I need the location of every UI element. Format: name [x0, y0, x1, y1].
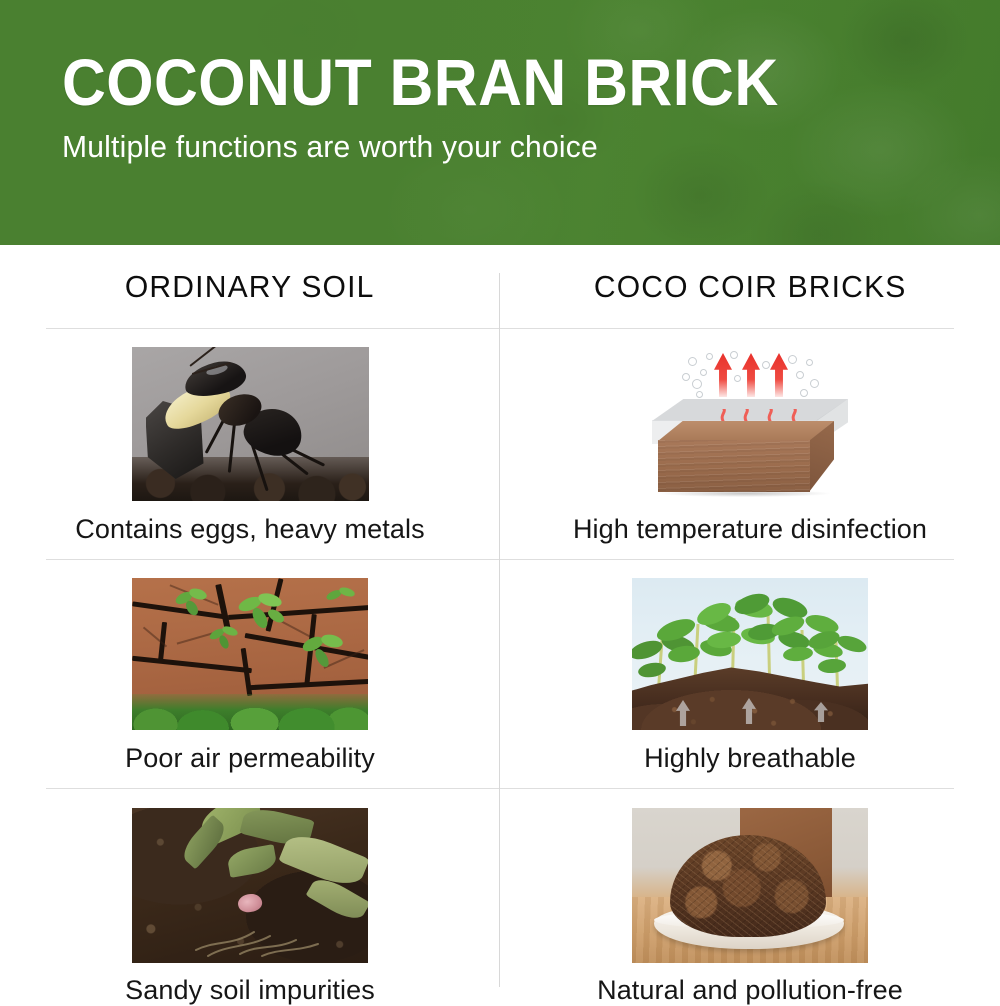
soil-sprout	[174, 584, 214, 618]
brick-shadow	[660, 490, 830, 497]
cell-coco-coir-3: Natural and pollution-free	[500, 789, 1000, 1006]
soil-sprout	[236, 586, 288, 630]
cell-caption: Highly breathable	[644, 743, 856, 774]
cell-caption: High temperature disinfection	[573, 514, 927, 545]
column-header-ordinary-soil: ORDINARY SOIL	[0, 245, 500, 328]
steam-bubble	[796, 371, 804, 379]
soil-sprout	[208, 622, 242, 650]
steam-bubble	[700, 369, 707, 376]
steam-bubble	[734, 375, 741, 382]
heat-sterilization-diagram	[630, 347, 870, 501]
steam-bubble	[730, 351, 738, 359]
comparison-table: ORDINARY SOIL COCO COIR BRICKS	[0, 245, 1000, 987]
steam-bubble	[762, 361, 770, 369]
cell-caption: Contains eggs, heavy metals	[75, 514, 424, 545]
soil-crack	[132, 656, 252, 674]
page-subtitle: Multiple functions are worth your choice	[62, 130, 818, 164]
cell-coco-coir-1: High temperature disinfection	[500, 329, 1000, 545]
cracked-dry-soil-image	[132, 578, 368, 730]
steam-bubble	[806, 359, 813, 366]
cell-ordinary-soil-2: Poor air permeability	[0, 560, 500, 774]
soil-sprout	[300, 628, 348, 670]
ant-carrying-larva-image	[132, 347, 369, 501]
column-header-label: ORDINARY SOIL	[125, 269, 375, 305]
cell-coco-coir-2: Highly breathable	[500, 560, 1000, 774]
column-header-row: ORDINARY SOIL COCO COIR BRICKS	[0, 245, 1000, 328]
cell-caption: Sandy soil impurities	[125, 975, 375, 1006]
cell-caption: Poor air permeability	[125, 743, 375, 774]
wilted-plant-soil-image	[132, 808, 368, 963]
steam-bubble	[706, 353, 713, 360]
cell-caption: Natural and pollution-free	[597, 975, 903, 1006]
column-divider	[499, 273, 500, 987]
table-row: Poor air permeability	[0, 560, 1000, 774]
steam-bubble	[788, 355, 797, 364]
steam-bubble	[692, 379, 702, 389]
coir-brick-texture	[658, 440, 810, 492]
column-header-label: COCO COIR BRICKS	[594, 269, 907, 305]
steam-bubble	[682, 373, 690, 381]
coir-fiber-dish-image	[632, 808, 868, 963]
steam-bubble	[688, 357, 697, 366]
column-header-coco-coir-bricks: COCO COIR BRICKS	[500, 245, 1000, 328]
steam-bubble	[696, 391, 703, 398]
grass-foreground	[132, 694, 368, 730]
header-banner: COCONUT BRAN BRICK Multiple functions ar…	[0, 0, 1000, 245]
heat-arrow-up-icon	[714, 353, 732, 397]
table-row: Contains eggs, heavy metals	[0, 329, 1000, 545]
cell-ordinary-soil-3: Sandy soil impurities	[0, 789, 500, 1006]
table-row: Sandy soil impurities Natural and pollut…	[0, 789, 1000, 1006]
steam-bubble	[810, 379, 819, 388]
seedlings-in-coir-image	[632, 578, 868, 730]
soil-sprout	[324, 582, 358, 612]
page-title: COCONUT BRAN BRICK	[62, 48, 779, 116]
coir-brick-top	[658, 421, 834, 441]
steam-bubble	[800, 389, 808, 397]
heat-arrow-up-icon	[770, 353, 788, 397]
cell-ordinary-soil-1: Contains eggs, heavy metals	[0, 329, 500, 545]
heat-arrow-up-icon	[742, 353, 760, 397]
banner-text-block: COCONUT BRAN BRICK Multiple functions ar…	[62, 48, 841, 164]
dry-stems	[192, 900, 322, 958]
